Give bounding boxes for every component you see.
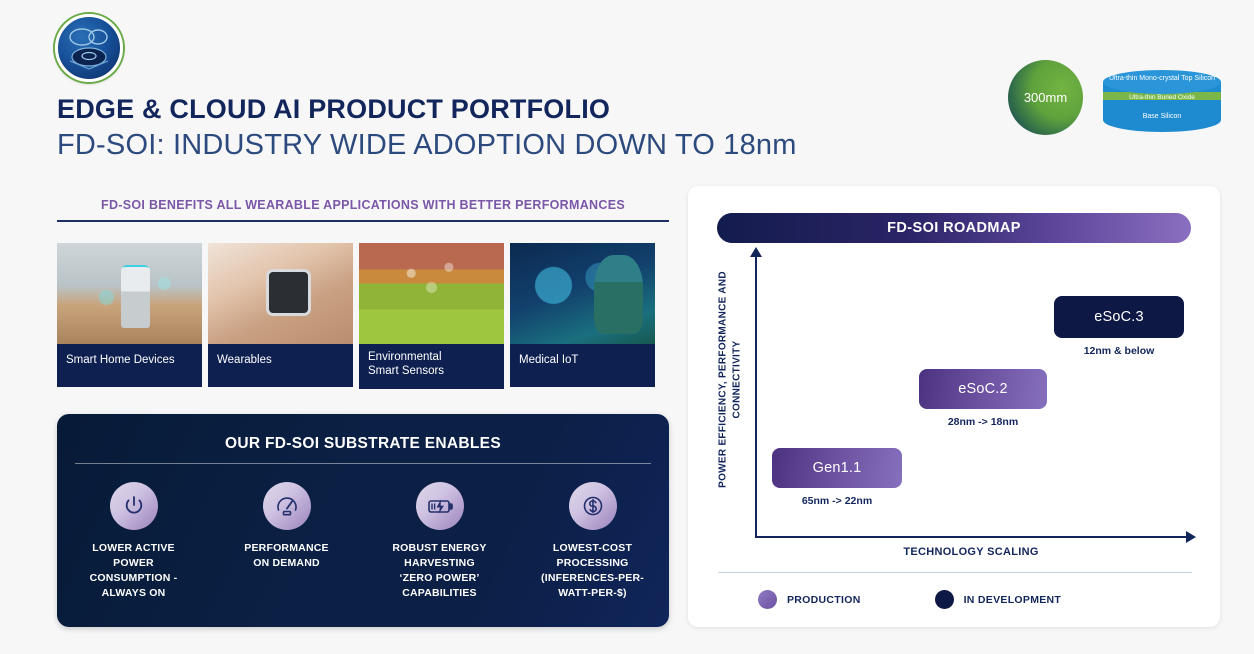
enable-label-line: ALWAYS ON	[57, 586, 210, 601]
roadmap-panel: FD-SOI ROADMAP POWER EFFICIENCY, PERFORM…	[688, 186, 1220, 627]
application-card[interactable]: Smart Home Devices	[57, 243, 202, 389]
slide-root: EDGE & CLOUD AI PRODUCT PORTFOLIO FD-SOI…	[0, 0, 1254, 654]
legend-item-in-development: IN DEVELOPMENT	[935, 590, 1062, 609]
application-card[interactable]: Medical IoT	[510, 243, 655, 389]
enable-label-line: PERFORMANCE	[210, 541, 363, 556]
x-axis	[755, 536, 1187, 538]
enable-label-line: HARVESTING	[363, 556, 516, 571]
battery-bolt-icon	[416, 482, 464, 530]
x-axis-label: TECHNOLOGY SCALING	[755, 546, 1187, 558]
card-label: Medical IoT	[510, 344, 655, 387]
enable-label-line: POWER	[57, 556, 210, 571]
panel-divider	[75, 463, 651, 464]
page-subtitle: FD-SOI: INDUSTRY WIDE ADOPTION DOWN TO 1…	[57, 129, 797, 162]
company-logo	[55, 14, 123, 82]
application-card[interactable]: Wearables	[208, 243, 353, 389]
node-range: 12nm & below	[1054, 345, 1184, 357]
dollar-coin-icon	[569, 482, 617, 530]
enable-label-line: WATT-PER-$)	[516, 586, 669, 601]
page-title: EDGE & CLOUD AI PRODUCT PORTFOLIO	[57, 94, 610, 125]
field-sensor-photo	[359, 243, 504, 344]
enable-label-line: (INFERENCES-PER-	[516, 571, 669, 586]
enable-label-line: LOWER ACTIVE	[57, 541, 210, 556]
enable-label-line: CONSUMPTION -	[57, 571, 210, 586]
power-button-icon	[110, 482, 158, 530]
node-label: eSoC.3	[1054, 296, 1184, 338]
panel-title: OUR FD-SOI SUBSTRATE ENABLES	[57, 414, 669, 453]
smart-speaker-photo	[57, 243, 202, 344]
enable-label-line: CAPABILITIES	[363, 586, 516, 601]
legend-label: IN DEVELOPMENT	[964, 594, 1062, 606]
enable-item-robust-energy-harvesting: ROBUST ENERGY HARVESTING ‘ZERO POWER’ CA…	[363, 482, 516, 601]
enable-label: LOWER ACTIVE POWER CONSUMPTION - ALWAYS …	[57, 541, 210, 601]
card-label: Environmental Smart Sensors	[359, 344, 504, 389]
smartwatch-photo	[208, 243, 353, 344]
node-range: 28nm -> 18nm	[919, 416, 1047, 428]
enable-label-line: ‘ZERO POWER’	[363, 571, 516, 586]
medical-professional-photo	[510, 243, 655, 344]
y-axis-label-line1: POWER EFFICIENCY, PERFORMANCE AND	[717, 265, 731, 495]
wafer-stack-diagram: Ultra-thin Mono-crystal Top Silicon Ultr…	[1101, 66, 1223, 134]
enable-label: LOWEST-COST PROCESSING (INFERENCES-PER- …	[516, 541, 669, 601]
roadmap-node-esoc-2[interactable]: eSoC.2 28nm -> 18nm	[919, 369, 1047, 428]
legend-label: PRODUCTION	[787, 594, 861, 606]
card-label: Wearables	[208, 344, 353, 387]
enable-item-lower-active-power: LOWER ACTIVE POWER CONSUMPTION - ALWAYS …	[57, 482, 210, 601]
enable-label-line: PROCESSING	[516, 556, 669, 571]
roadmap-node-esoc-3[interactable]: eSoC.3 12nm & below	[1054, 296, 1184, 357]
enable-label: ROBUST ENERGY HARVESTING ‘ZERO POWER’ CA…	[363, 541, 516, 601]
legend-divider	[718, 572, 1192, 573]
application-card-list: Smart Home Devices Wearables Environment…	[57, 243, 655, 389]
roadmap-legend: PRODUCTION IN DEVELOPMENT	[758, 590, 1061, 609]
wafer-diameter-badge: 300mm	[1008, 60, 1083, 135]
benefits-heading: FD-SOI BENEFITS ALL WEARABLE APPLICATION…	[57, 198, 669, 212]
enable-label-line: LOWEST-COST	[516, 541, 669, 556]
enables-list: LOWER ACTIVE POWER CONSUMPTION - ALWAYS …	[57, 482, 669, 601]
y-axis	[755, 256, 757, 538]
enable-label: PERFORMANCE ON DEMAND	[210, 541, 363, 571]
node-label: eSoC.2	[919, 369, 1047, 409]
enable-label-line: ON DEMAND	[210, 556, 363, 571]
layer-label-base-silicon: Base Silicon	[1143, 113, 1182, 120]
legend-item-production: PRODUCTION	[758, 590, 861, 609]
production-dot-icon	[758, 590, 777, 609]
card-label-line2: Smart Sensors	[368, 364, 495, 378]
roadmap-node-gen1-1[interactable]: Gen1.1 65nm -> 22nm	[772, 448, 902, 507]
enable-item-performance-on-demand: PERFORMANCE ON DEMAND	[210, 482, 363, 601]
application-card[interactable]: Environmental Smart Sensors	[359, 243, 504, 389]
roadmap-banner: FD-SOI ROADMAP	[717, 213, 1191, 243]
card-label: Smart Home Devices	[57, 344, 202, 387]
y-axis-label: POWER EFFICIENCY, PERFORMANCE AND CONNEC…	[717, 265, 744, 495]
wafer-diameter-label: 300mm	[1024, 90, 1067, 105]
enable-label-line: ROBUST ENERGY	[363, 541, 516, 556]
enable-item-lowest-cost-processing: LOWEST-COST PROCESSING (INFERENCES-PER- …	[516, 482, 669, 601]
in-development-dot-icon	[935, 590, 954, 609]
card-label-line1: Environmental	[368, 350, 495, 364]
speedometer-icon	[263, 482, 311, 530]
node-label: Gen1.1	[772, 448, 902, 488]
layer-label-buried-oxide: Ultra-thin Buried Oxide	[1129, 94, 1195, 101]
y-axis-label-line2: CONNECTIVITY	[730, 265, 744, 495]
substrate-enables-panel: OUR FD-SOI SUBSTRATE ENABLES LOWER ACTIV…	[57, 414, 669, 627]
benefits-divider	[57, 220, 669, 222]
layer-label-top-silicon: Ultra-thin Mono-crystal Top Silicon	[1109, 75, 1215, 82]
node-range: 65nm -> 22nm	[772, 495, 902, 507]
